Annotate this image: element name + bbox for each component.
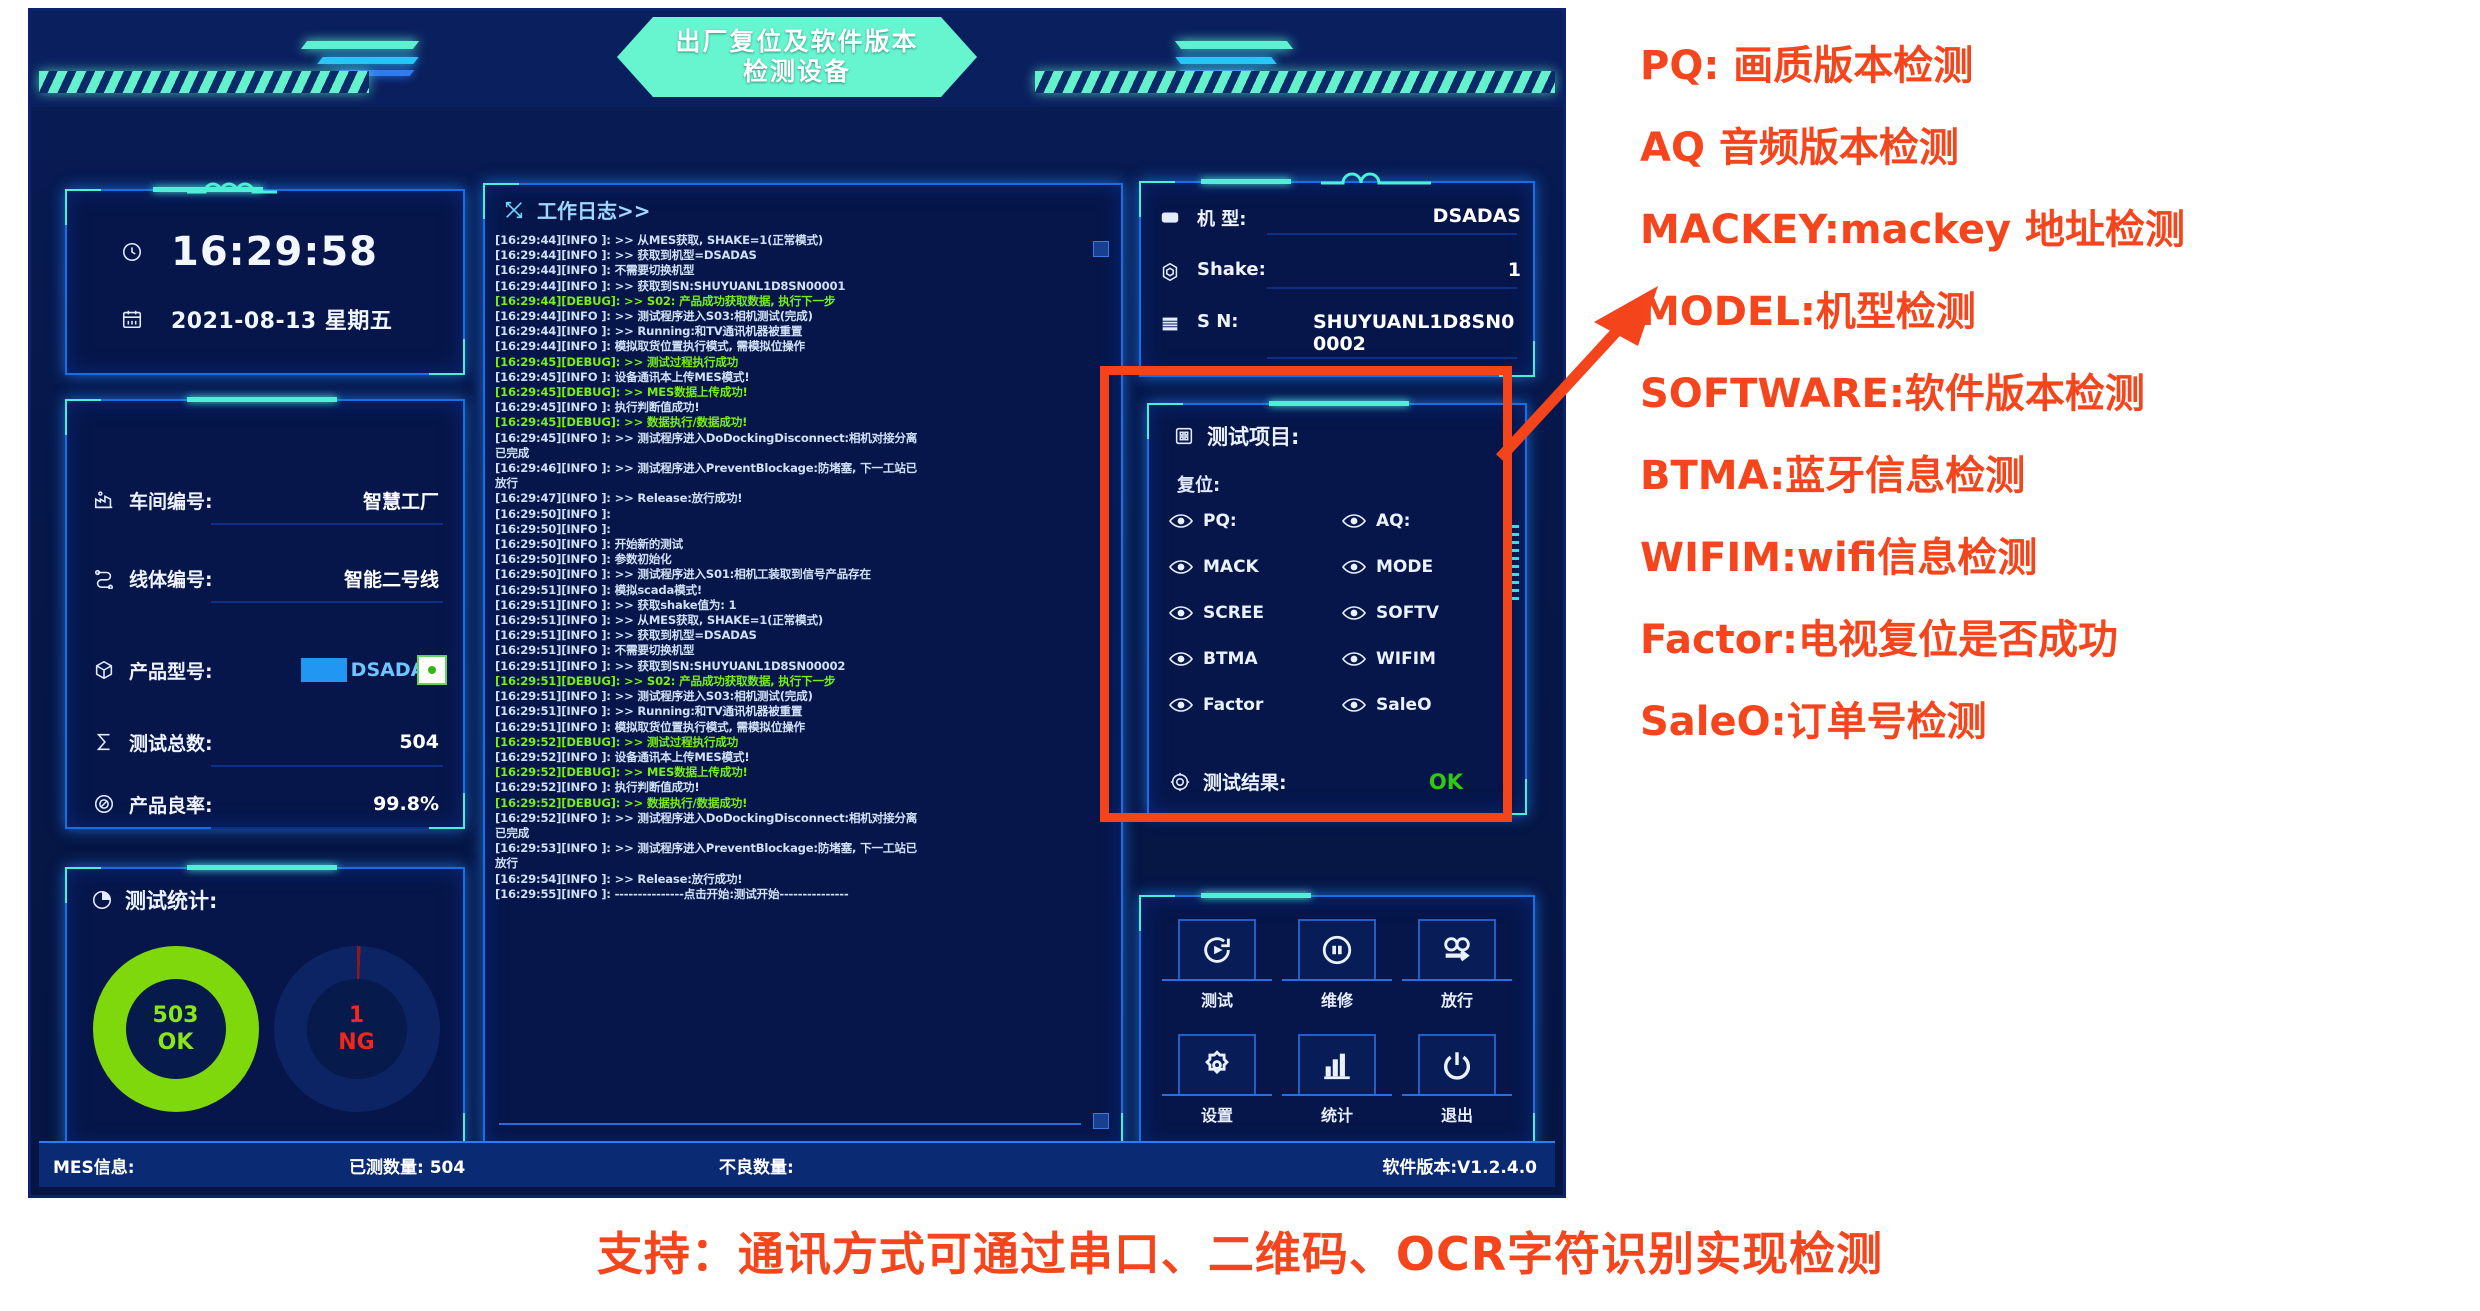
- line-route-icon: [91, 565, 117, 591]
- test-item-label: MACK: [1203, 557, 1259, 577]
- log-line: [16:29:51][INFO ]: 不需要切换机型: [495, 643, 1111, 658]
- annotation-line: AQ 音频版本检测: [1640, 128, 2460, 168]
- ok-count: 503: [153, 1002, 199, 1030]
- field-underline: [211, 827, 443, 829]
- test-items-title: 测试项目:: [1171, 421, 1299, 451]
- statistics-button-label: 统计: [1321, 1102, 1353, 1126]
- log-line: [16:29:50][INFO ]: 开始新的测试: [495, 537, 1111, 552]
- annotation-line: MODEL:机型检测: [1640, 292, 2460, 332]
- field-yield-label: 产品良率:: [129, 791, 213, 818]
- target-icon: [1167, 769, 1193, 795]
- ng-label: NG: [338, 1029, 374, 1057]
- log-line: 放行: [495, 476, 1111, 491]
- status-tested-count: 已测数量: 504: [349, 1153, 465, 1178]
- log-line: [16:29:55][INFO ]: ---------------点击开始:测…: [495, 887, 1111, 902]
- button-divider: [1402, 979, 1512, 981]
- items-scrollbar[interactable]: [1511, 525, 1519, 655]
- field-underline: [211, 601, 443, 603]
- field-underline: [1267, 357, 1517, 359]
- test-item[interactable]: SaleO: [1342, 695, 1509, 715]
- test-item[interactable]: WIFIM: [1342, 649, 1509, 669]
- test-button[interactable]: 测试: [1157, 907, 1277, 1022]
- test-item-label: MODE: [1376, 557, 1433, 577]
- calendar-icon: [119, 306, 145, 332]
- log-line: [16:29:52][INFO ]: 设备通讯本上传MES模式!: [495, 750, 1111, 765]
- work-log-panel: 工作日志>> [16:29:44][INFO ]: >> 从MES获取, SHA…: [483, 183, 1123, 1149]
- play-refresh-icon: [1178, 919, 1256, 979]
- test-item[interactable]: AQ:: [1342, 511, 1509, 531]
- button-divider: [1402, 1094, 1512, 1096]
- eye-icon: [1342, 651, 1366, 667]
- page-title-line1: 出厂复位及软件版本: [675, 27, 918, 58]
- app-header: 出厂复位及软件版本 检测设备: [31, 11, 1563, 107]
- button-divider: [1282, 1094, 1392, 1096]
- ng-count: 1: [338, 1002, 374, 1030]
- squiggle-decoration: [187, 179, 277, 193]
- test-item[interactable]: BTMA: [1169, 649, 1336, 669]
- sigma-icon: [91, 729, 117, 755]
- field-line: 线体编号: 智能二号线: [91, 549, 443, 607]
- field-line-value: 智能二号线: [344, 565, 443, 592]
- test-statistics-title-text: 测试统计:: [125, 885, 217, 915]
- log-line: [16:29:51][INFO ]: >> 获取shake值为: 1: [495, 598, 1111, 613]
- eye-icon: [1169, 605, 1193, 621]
- bottom-caption: 支持：通讯方式可通过串口、二维码、OCR字符识别实现检测: [0, 1218, 2480, 1284]
- log-line: [16:29:54][INFO ]: >> Release:放行成功!: [495, 872, 1111, 887]
- bar-chart-icon: [1298, 1034, 1376, 1094]
- log-line: [16:29:44][INFO ]: >> 获取到SN:SHUYUANL1D8S…: [495, 279, 1111, 294]
- statistics-donuts: 503 OK 1 NG: [85, 931, 447, 1131]
- gear-icon: [1178, 1034, 1256, 1094]
- panel-cap: [1269, 401, 1409, 406]
- repair-button-label: 维修: [1321, 987, 1353, 1011]
- log-line: [16:29:50][INFO ]:: [495, 507, 1111, 522]
- annotation-list: PQ: 画质版本检测AQ 音频版本检测MACKEY:mackey 地址检测MOD…: [1640, 46, 2460, 784]
- status-software-version: 软件版本:V1.2.4.0: [1382, 1153, 1537, 1178]
- eye-icon: [1169, 513, 1193, 529]
- log-line: [16:29:44][INFO ]: >> 从MES获取, SHAKE=1(正常…: [495, 233, 1111, 248]
- donut-ng-ring: 1 NG: [274, 946, 440, 1112]
- work-log-title-text: 工作日志>>: [537, 195, 651, 224]
- eye-icon: [1342, 605, 1366, 621]
- page-title: 出厂复位及软件版本 检测设备: [617, 17, 977, 97]
- log-line: [16:29:52][DEBUG]: >> MES数据上传成功!: [495, 765, 1111, 780]
- log-line: [16:29:51][DEBUG]: >> S02: 产品成功获取数据, 执行下…: [495, 674, 1111, 689]
- percent-gauge-icon: [91, 791, 117, 817]
- machine-shake-label: Shake:: [1197, 259, 1266, 280]
- log-line: [16:29:44][INFO ]: 不需要切换机型: [495, 263, 1111, 278]
- eye-icon: [1342, 559, 1366, 575]
- log-line: [16:29:51][INFO ]: >> 获取到机型=DSADAS: [495, 628, 1111, 643]
- log-line: [16:29:45][INFO ]: >> 测试程序进入DoDockingDis…: [495, 431, 1111, 446]
- log-line: [16:29:50][INFO ]:: [495, 522, 1111, 537]
- log-line: [16:29:50][INFO ]: >> 测试程序进入S01:相机工装取到信号…: [495, 567, 1111, 582]
- work-log-title: 工作日志>>: [501, 195, 651, 224]
- log-line: [16:29:45][DEBUG]: >> 测试过程执行成功: [495, 355, 1111, 370]
- barcode-icon: [1157, 311, 1183, 337]
- hexagon-shake-icon: [1157, 259, 1183, 285]
- test-item-label: WIFIM: [1376, 649, 1436, 669]
- field-yield-value: 99.8%: [373, 793, 443, 815]
- eye-icon: [1169, 651, 1193, 667]
- log-line: [16:29:53][INFO ]: >> 测试程序进入PreventBlock…: [495, 841, 1111, 856]
- release-button[interactable]: 放行: [1397, 907, 1517, 1022]
- factory-icon: [91, 487, 117, 513]
- log-line: [16:29:51][INFO ]: 模拟取货位置执行模式, 需模拟位操作: [495, 720, 1111, 735]
- action-buttons-panel: 测试 维修 放行 设置: [1139, 895, 1535, 1149]
- log-line: [16:29:51][INFO ]: >> 测试程序进入S03:相机测试(完成): [495, 689, 1111, 704]
- log-line: [16:29:51][INFO ]: >> 获取到SN:SHUYUANL1D8S…: [495, 659, 1111, 674]
- field-underline: [1267, 233, 1517, 235]
- log-line: [16:29:44][INFO ]: >> Running:和TV通讯机器被重置: [495, 324, 1111, 339]
- test-item[interactable]: SCREE: [1169, 603, 1336, 623]
- log-line: [16:29:45][DEBUG]: >> MES数据上传成功!: [495, 385, 1111, 400]
- machine-sn-label: S N:: [1197, 311, 1239, 332]
- log-line: [16:29:47][INFO ]: >> Release:放行成功!: [495, 491, 1111, 506]
- hmi-screen: 出厂复位及软件版本 检测设备 16:29:58 2021-08-13 星期五: [28, 8, 1566, 1198]
- clock-time-row: 16:29:58: [119, 229, 378, 275]
- field-yield: 产品良率: 99.8%: [91, 775, 443, 833]
- model-color-swatch: [301, 658, 347, 682]
- log-line: [16:29:44][INFO ]: 模拟取货位置执行模式, 需模拟位操作: [495, 339, 1111, 354]
- product-info-panel: 车间编号: 智慧工厂 线体编号: 智能二号线 产品型号: DSADAS: [65, 399, 465, 829]
- test-items-title-text: 测试项目:: [1207, 421, 1299, 451]
- log-line: 已完成: [495, 446, 1111, 461]
- field-underline: [211, 523, 443, 525]
- log-line: [16:29:51][INFO ]: >> 从MES获取, SHAKE=1(正常…: [495, 613, 1111, 628]
- checklist-icon: [1171, 423, 1197, 449]
- release-icon: [1418, 919, 1496, 979]
- repair-button[interactable]: 维修: [1277, 907, 1397, 1022]
- clock-panel: 16:29:58 2021-08-13 星期五: [65, 189, 465, 375]
- log-line: [16:29:44][INFO ]: >> 测试程序进入S03:相机测试(完成): [495, 309, 1111, 324]
- test-result-row: 测试结果: OK: [1167, 768, 1497, 795]
- test-item-label: SaleO: [1376, 695, 1432, 715]
- donut-ok: 503 OK: [85, 931, 266, 1127]
- status-bad-count: 不良数量:: [719, 1153, 794, 1178]
- hatch-stripe-left: [39, 71, 369, 93]
- clock-icon: [119, 239, 145, 265]
- tv-icon: [1157, 205, 1183, 231]
- donut-ok-ring: 503 OK: [93, 946, 259, 1112]
- test-item[interactable]: MACK: [1169, 557, 1336, 577]
- eye-icon: [1342, 697, 1366, 713]
- field-workshop-value: 智慧工厂: [363, 487, 443, 514]
- log-line: 放行: [495, 856, 1111, 871]
- button-divider: [1162, 979, 1272, 981]
- log-line: [16:29:45][DEBUG]: >> 数据执行/数据成功!: [495, 415, 1111, 430]
- release-button-label: 放行: [1441, 987, 1473, 1011]
- field-total-tests-value: 504: [399, 731, 443, 753]
- panel-cap: [187, 865, 337, 870]
- work-log-body[interactable]: [16:29:44][INFO ]: >> 从MES获取, SHAKE=1(正常…: [495, 233, 1111, 1117]
- log-line: [16:29:44][DEBUG]: >> S02: 产品成功获取数据, 执行下…: [495, 294, 1111, 309]
- log-line: [16:29:51][INFO ]: >> Running:和TV通讯机器被重置: [495, 704, 1111, 719]
- test-item-label: BTMA: [1203, 649, 1258, 669]
- test-items-panel: 测试项目: 复位: PQ:AQ:MACKMODESCREESOFTVBTMAWI…: [1147, 403, 1527, 815]
- exit-button-label: 退出: [1441, 1102, 1473, 1126]
- machine-shake-row: Shake: 1: [1157, 259, 1521, 285]
- box-icon: [91, 657, 117, 683]
- test-statistics-title: 测试统计:: [89, 885, 217, 915]
- test-item-label: AQ:: [1376, 511, 1410, 531]
- button-divider: [1162, 1094, 1272, 1096]
- log-line: [16:29:51][INFO ]: 模拟scada模式!: [495, 583, 1111, 598]
- field-workshop: 车间编号: 智慧工厂: [91, 471, 443, 529]
- annotation-line: WIFIM:wifi信息检测: [1640, 538, 2460, 578]
- log-line: 已完成: [495, 826, 1111, 841]
- field-model[interactable]: 产品型号: DSADAS: [91, 641, 443, 699]
- page-title-line2: 检测设备: [743, 57, 851, 88]
- hatch-stripe-right: [1035, 71, 1555, 93]
- annotation-line: SOFTWARE:软件版本检测: [1640, 374, 2460, 414]
- annotation-line: Factor:电视复位是否成功: [1640, 620, 2460, 660]
- machine-model-value: DSADAS: [1433, 205, 1521, 227]
- field-workshop-label: 车间编号:: [129, 487, 213, 514]
- log-line: [16:29:45][INFO ]: 设备通讯本上传MES模式!: [495, 370, 1111, 385]
- test-items-list: PQ:AQ:MACKMODESCREESOFTVBTMAWIFIMFactorS…: [1169, 511, 1509, 715]
- panel-cap: [187, 397, 337, 402]
- log-line: [16:29:46][INFO ]: >> 测试程序进入PreventBlock…: [495, 461, 1111, 476]
- log-line: [16:29:50][INFO ]: 参数初始化: [495, 552, 1111, 567]
- field-underline: [1267, 287, 1517, 289]
- test-button-label: 测试: [1201, 987, 1233, 1011]
- test-item-label: SCREE: [1203, 603, 1264, 623]
- log-line: [16:29:52][DEBUG]: >> 测试过程执行成功: [495, 735, 1111, 750]
- panel-cap: [1201, 893, 1311, 898]
- eye-icon: [1169, 697, 1193, 713]
- clock-date-value: 2021-08-13 星期五: [171, 303, 392, 335]
- log-divider: [499, 1123, 1081, 1125]
- model-status-indicator[interactable]: [417, 655, 447, 685]
- field-total-tests-label: 测试总数:: [129, 729, 213, 756]
- donut-ng-text: 1 NG: [338, 1002, 374, 1057]
- clock-time-value: 16:29:58: [171, 229, 378, 275]
- field-line-label: 线体编号:: [129, 565, 213, 592]
- log-line: [16:29:52][DEBUG]: >> 数据执行/数据成功!: [495, 796, 1111, 811]
- test-result-label: 测试结果:: [1203, 768, 1287, 795]
- reset-item-label: 复位:: [1177, 471, 1220, 497]
- eye-icon: [1342, 513, 1366, 529]
- pause-icon: [1298, 919, 1376, 979]
- test-item-label: Factor: [1203, 695, 1263, 715]
- pie-chart-icon: [89, 887, 115, 913]
- statistics-button[interactable]: 统计: [1277, 1022, 1397, 1137]
- annotation-line: PQ: 画质版本检测: [1640, 46, 2460, 86]
- ok-label: OK: [153, 1029, 199, 1057]
- test-item[interactable]: Factor: [1169, 695, 1336, 715]
- clock-date-row: 2021-08-13 星期五: [119, 303, 392, 335]
- machine-sn-row: S N: SHUYUANL1D8SN00002: [1157, 311, 1521, 355]
- donut-ok-text: 503 OK: [153, 1002, 199, 1057]
- action-buttons-grid: 测试 维修 放行 设置: [1157, 907, 1517, 1137]
- log-line: [16:29:44][INFO ]: >> 获取到机型=DSADAS: [495, 248, 1111, 263]
- annotation-line: MACKEY:mackey 地址检测: [1640, 210, 2460, 250]
- annotation-line: SaleO:订单号检测: [1640, 702, 2460, 742]
- test-result-value: OK: [1429, 770, 1497, 794]
- power-icon: [1418, 1034, 1496, 1094]
- machine-model-label: 机 型:: [1197, 205, 1246, 231]
- settings-button-label: 设置: [1201, 1102, 1233, 1126]
- field-underline: [211, 765, 443, 767]
- status-mes-info: MES信息:: [53, 1153, 135, 1178]
- exit-button[interactable]: 退出: [1397, 1022, 1517, 1137]
- annotation-line: BTMA:蓝牙信息检测: [1640, 456, 2460, 496]
- machine-info-panel: 机 型: DSADAS Shake: 1 S N: SHUYUANL1D8SN0…: [1139, 181, 1535, 377]
- status-bar: MES信息: 已测数量: 504 不良数量: 软件版本:V1.2.4.0: [39, 1141, 1555, 1187]
- test-item[interactable]: SOFTV: [1342, 603, 1509, 623]
- test-item-label: SOFTV: [1376, 603, 1439, 623]
- log-icon: [501, 197, 527, 223]
- test-item[interactable]: PQ:: [1169, 511, 1336, 531]
- field-model-label: 产品型号:: [129, 657, 213, 684]
- panel-cap: [1201, 179, 1291, 184]
- test-items-grid: PQ:AQ:MACKMODESCREESOFTVBTMAWIFIMFactorS…: [1169, 511, 1509, 715]
- log-scroll-down[interactable]: [1093, 1113, 1109, 1129]
- settings-button[interactable]: 设置: [1157, 1022, 1277, 1137]
- log-line: [16:29:45][INFO ]: 执行判断值成功!: [495, 400, 1111, 415]
- test-item-label: PQ:: [1203, 511, 1237, 531]
- eye-icon: [1169, 559, 1193, 575]
- donut-ng: 1 NG: [266, 931, 447, 1127]
- button-divider: [1282, 979, 1392, 981]
- machine-model-row: 机 型: DSADAS: [1157, 205, 1521, 231]
- log-line: [16:29:52][INFO ]: 执行判断值成功!: [495, 780, 1111, 795]
- squiggle-decoration: [1321, 170, 1431, 184]
- test-item[interactable]: MODE: [1342, 557, 1509, 577]
- test-statistics-panel: 测试统计: 503 OK 1 NG: [65, 867, 465, 1149]
- log-line: [16:29:52][INFO ]: >> 测试程序进入DoDockingDis…: [495, 811, 1111, 826]
- field-total-tests: 测试总数: 504: [91, 713, 443, 771]
